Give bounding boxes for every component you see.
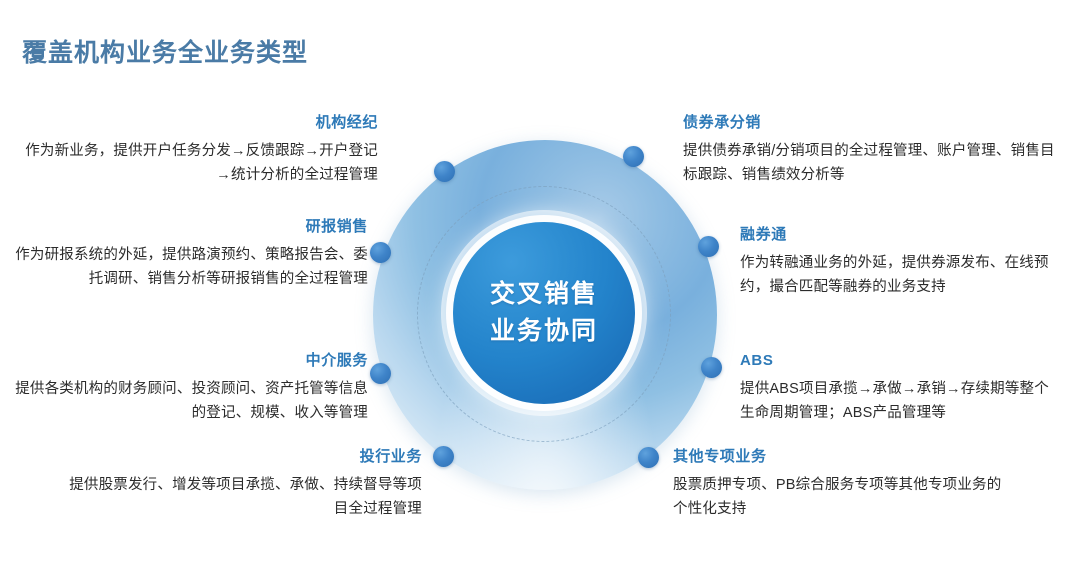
block-title-securities-lending: 融券通 — [740, 224, 1070, 247]
node-dot-institutional-brokerage[interactable] — [434, 161, 455, 182]
block-abs: ABS 提供ABS项目承揽→承做→承销→存续期等整个生命周期管理；ABS产品管理… — [740, 350, 1060, 426]
block-other-special-business: 其他专项业务 股票质押专项、PB综合服务专项等其他专项业务的个性化支持 — [673, 446, 1003, 522]
block-title-research-sales: 研报销售 — [8, 216, 368, 239]
block-body-intermediary-services: 提供各类机构的财务顾问、投资顾问、资产托管等信息的登记、规模、收入等管理 — [8, 377, 368, 427]
center-label-line-1: 交叉销售 — [490, 276, 598, 314]
node-dot-other-special-business[interactable] — [638, 447, 659, 468]
node-dot-research-sales[interactable] — [370, 242, 391, 263]
block-title-bond-underwriting: 债券承分销 — [683, 112, 1063, 135]
block-title-other-special-business: 其他专项业务 — [673, 446, 1003, 469]
block-body-investment-banking: 提供股票发行、增发等项目承揽、承做、持续督导等项目全过程管理 — [62, 473, 422, 523]
block-investment-banking: 投行业务 提供股票发行、增发等项目承揽、承做、持续督导等项目全过程管理 — [62, 446, 422, 522]
block-title-institutional-brokerage: 机构经纪 — [18, 112, 378, 135]
node-dot-abs[interactable] — [701, 357, 722, 378]
block-institutional-brokerage: 机构经纪 作为新业务，提供开户任务分发→反馈跟踪→开户登记→统计分析的全过程管理 — [18, 112, 378, 188]
center-label-line-2: 业务协同 — [490, 313, 598, 351]
block-bond-underwriting: 债券承分销 提供债券承销/分销项目的全过程管理、账户管理、销售目标跟踪、销售绩效… — [683, 112, 1063, 188]
sphere-core: 交叉销售 业务协同 — [453, 222, 635, 404]
block-intermediary-services: 中介服务 提供各类机构的财务顾问、投资顾问、资产托管等信息的登记、规模、收入等管… — [8, 350, 368, 426]
block-research-sales: 研报销售 作为研报系统的外延，提供路演预约、策略报告会、委托调研、销售分析等研报… — [8, 216, 368, 292]
block-body-securities-lending: 作为转融通业务的外延，提供券源发布、在线预约，撮合匹配等融券的业务支持 — [740, 251, 1070, 301]
block-securities-lending: 融券通 作为转融通业务的外延，提供券源发布、在线预约，撮合匹配等融券的业务支持 — [740, 224, 1070, 300]
block-body-institutional-brokerage: 作为新业务，提供开户任务分发→反馈跟踪→开户登记→统计分析的全过程管理 — [18, 139, 378, 189]
node-dot-securities-lending[interactable] — [698, 236, 719, 257]
central-sphere-graphic: 交叉销售 业务协同 — [373, 140, 717, 490]
slide-canvas: 覆盖机构业务全业务类型 交叉销售 业务协同 机构经纪 作为新业务，提供开户任务分… — [0, 0, 1080, 563]
block-body-bond-underwriting: 提供债券承销/分销项目的全过程管理、账户管理、销售目标跟踪、销售绩效分析等 — [683, 139, 1063, 189]
block-title-intermediary-services: 中介服务 — [8, 350, 368, 373]
block-body-abs: 提供ABS项目承揽→承做→承销→存续期等整个生命周期管理；ABS产品管理等 — [740, 377, 1060, 427]
page-title: 覆盖机构业务全业务类型 — [22, 33, 308, 69]
node-dot-investment-banking[interactable] — [433, 446, 454, 467]
block-body-research-sales: 作为研报系统的外延，提供路演预约、策略报告会、委托调研、销售分析等研报销售的全过… — [8, 243, 368, 293]
block-title-investment-banking: 投行业务 — [62, 446, 422, 469]
node-dot-bond-underwriting[interactable] — [623, 146, 644, 167]
block-title-abs: ABS — [740, 350, 1060, 373]
block-body-other-special-business: 股票质押专项、PB综合服务专项等其他专项业务的个性化支持 — [673, 473, 1003, 523]
node-dot-intermediary-services[interactable] — [370, 363, 391, 384]
